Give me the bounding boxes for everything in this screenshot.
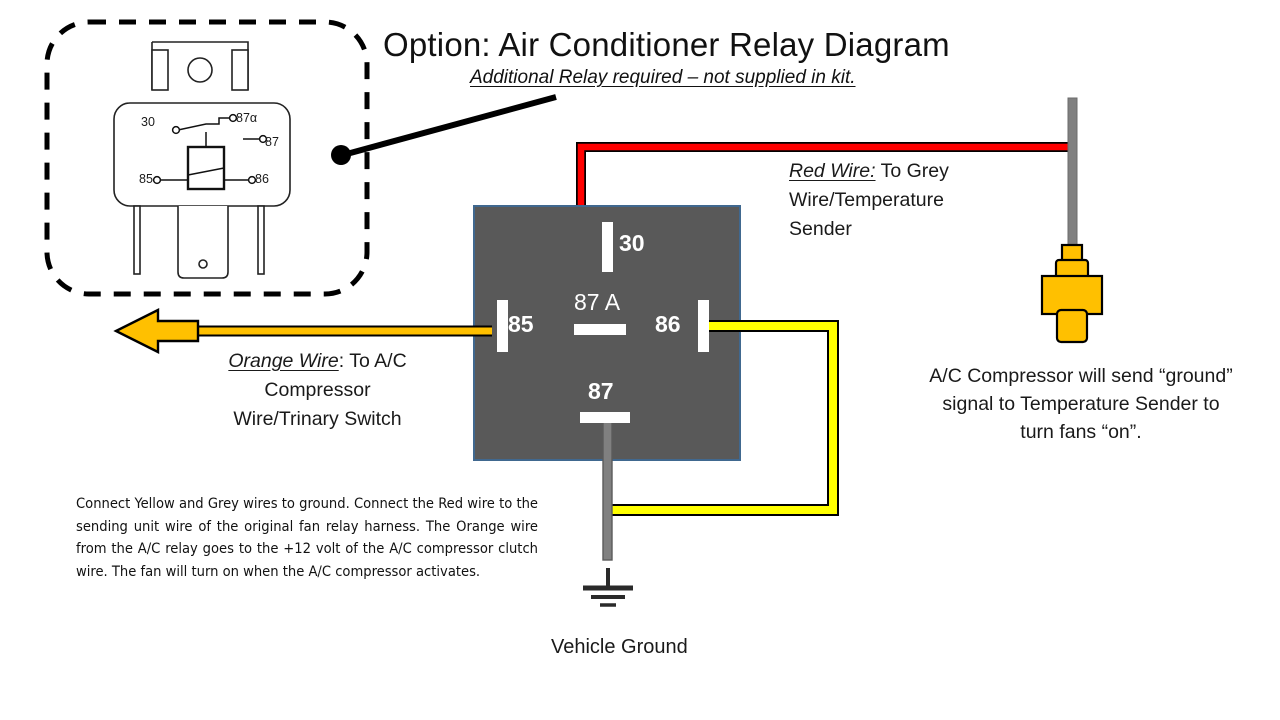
callout-orange-wire-lead: Orange Wire — [228, 350, 338, 372]
vehicle-ground-symbol — [583, 568, 633, 605]
page-subtitle: Additional Relay required – not supplied… — [470, 67, 856, 89]
inset-terminal-label-30: 30 — [141, 115, 155, 129]
instructions-paragraph: Connect Yellow and Grey wires to ground.… — [76, 493, 538, 583]
orange-wire-arrow — [116, 310, 198, 352]
blade-87 — [580, 412, 630, 423]
orange-wire — [116, 310, 492, 352]
callout-red-wire-lead: Red Wire: — [789, 160, 876, 182]
callout-red-wire: Red Wire: To Grey Wire/Temperature Sende… — [789, 157, 989, 244]
blade-87a — [574, 324, 626, 335]
page-title: Option: Air Conditioner Relay Diagram — [383, 26, 950, 64]
inset-terminal-label-87: 87 — [265, 135, 279, 149]
terminal-label-85: 85 — [508, 313, 534, 336]
temperature-sender — [1042, 245, 1102, 342]
inset-terminal-label-86: 86 — [255, 172, 269, 186]
terminal-label-86: 86 — [655, 313, 681, 336]
callout-orange-wire: Orange Wire: To A/C Compressor Wire/Trin… — [210, 347, 425, 434]
terminal-label-30: 30 — [619, 232, 645, 255]
vehicle-ground-label: Vehicle Ground — [551, 636, 688, 659]
terminal-label-87: 87 — [588, 380, 614, 403]
callout-compressor-note: A/C Compressor will send “ground” signal… — [928, 362, 1234, 446]
ground-wire — [603, 416, 612, 560]
inset-terminal-label-87a: 87α — [236, 111, 257, 125]
inset-terminal-label-85: 85 — [139, 172, 153, 186]
blade-86 — [698, 300, 709, 352]
sender-grey-wire — [1068, 98, 1077, 266]
blade-30 — [602, 222, 613, 272]
diagram-canvas — [0, 0, 1280, 720]
blade-85 — [497, 300, 508, 352]
terminal-label-87a: 87 A — [574, 291, 620, 314]
